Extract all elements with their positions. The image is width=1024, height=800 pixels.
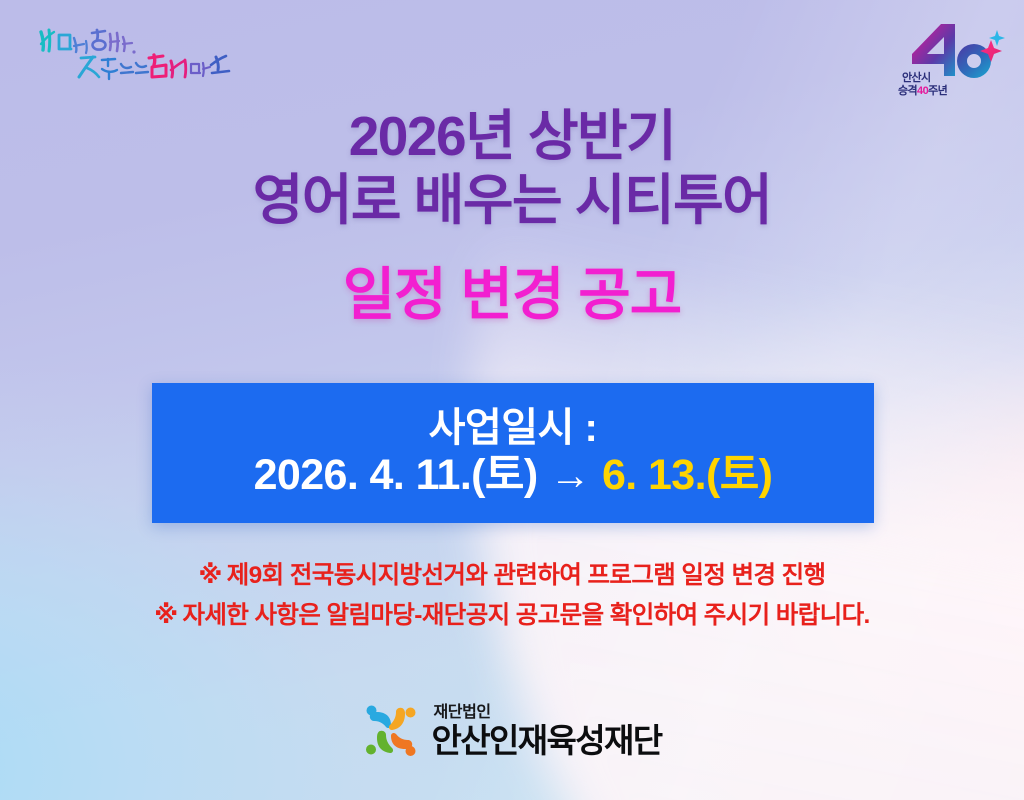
- note-line: ※제9회 전국동시지방선거와 관련하여 프로그램 일정 변경 진행: [0, 556, 1024, 596]
- svg-text:승격40주년: 승격40주년: [898, 83, 948, 97]
- foundation-pinwheel-icon: [362, 703, 420, 759]
- footer-logo: 재단법인 안산인재육성재단: [0, 703, 1024, 759]
- schedule-panel: 사업일시 : 2026. 4. 11.(토) → 6. 13.(토): [152, 383, 874, 523]
- schedule-new-date: 6. 13.(토): [602, 453, 772, 498]
- schedule-old-date: 2026. 4. 11.(토): [254, 453, 538, 498]
- schedule-dates: 2026. 4. 11.(토) → 6. 13.(토): [254, 453, 773, 498]
- arrow-right-icon: →: [548, 454, 592, 497]
- ansan-40th-anniversary-logo: 안산시 승격40주년: [896, 18, 1008, 100]
- poster-canvas: 안산시 승격40주년 2026년 상반기 영어로 배우는 시티투어 일정 변경 …: [0, 0, 1024, 800]
- note-text: 자세한 사항은 알림마당-재단공지 공고문을 확인하여 주시기 바랍니다.: [182, 602, 869, 629]
- foundation-name: 안산인재육성재단: [431, 724, 661, 757]
- notes-section: ※제9회 전국동시지방선거와 관련하여 프로그램 일정 변경 진행 ※자세한 사…: [0, 556, 1024, 635]
- note-text: 제9회 전국동시지방선거와 관련하여 프로그램 일정 변경 진행: [227, 562, 826, 589]
- reference-mark-icon: ※: [154, 602, 177, 629]
- page-title: 2026년 상반기 영어로 배우는 시티투어: [0, 104, 1024, 233]
- ansan-city-slogan-logo: [33, 24, 233, 86]
- svg-text:안산시: 안산시: [902, 70, 931, 84]
- foundation-kind: 재단법인: [431, 705, 661, 721]
- foundation-name-block: 재단법인 안산인재육성재단: [431, 705, 661, 757]
- reference-mark-icon: ※: [199, 562, 222, 589]
- schedule-label: 사업일시 :: [429, 407, 598, 449]
- announcement-subtitle: 일정 변경 공고: [0, 265, 1024, 327]
- note-line: ※자세한 사항은 알림마당-재단공지 공고문을 확인하여 주시기 바랍니다.: [0, 596, 1024, 636]
